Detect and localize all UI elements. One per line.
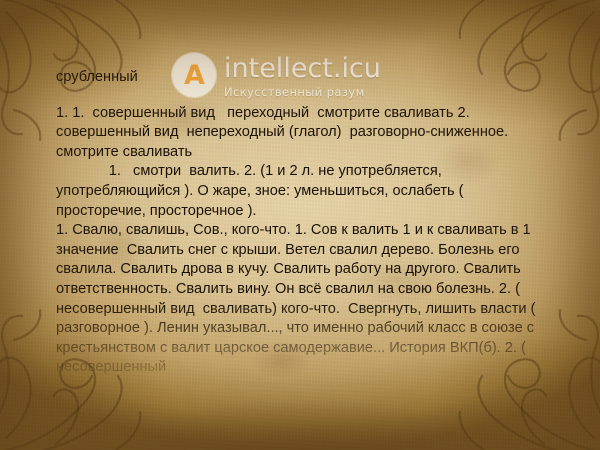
document-page: A intellect.icu Искусственный разум сруб… xyxy=(0,0,600,450)
document-paragraph: 1. смотри валить. 2. (1 и 2 л. не употре… xyxy=(56,162,548,221)
document-paragraph: 1. 1. совершенный вид переходный смотрит… xyxy=(56,104,548,163)
document-text: срубленный 1. 1. совершенный вид переход… xyxy=(56,68,548,378)
document-heading: срубленный xyxy=(56,68,548,88)
document-paragraph: 1. Свалю, свалишь, Сов., кого-что. 1. Со… xyxy=(56,221,548,378)
